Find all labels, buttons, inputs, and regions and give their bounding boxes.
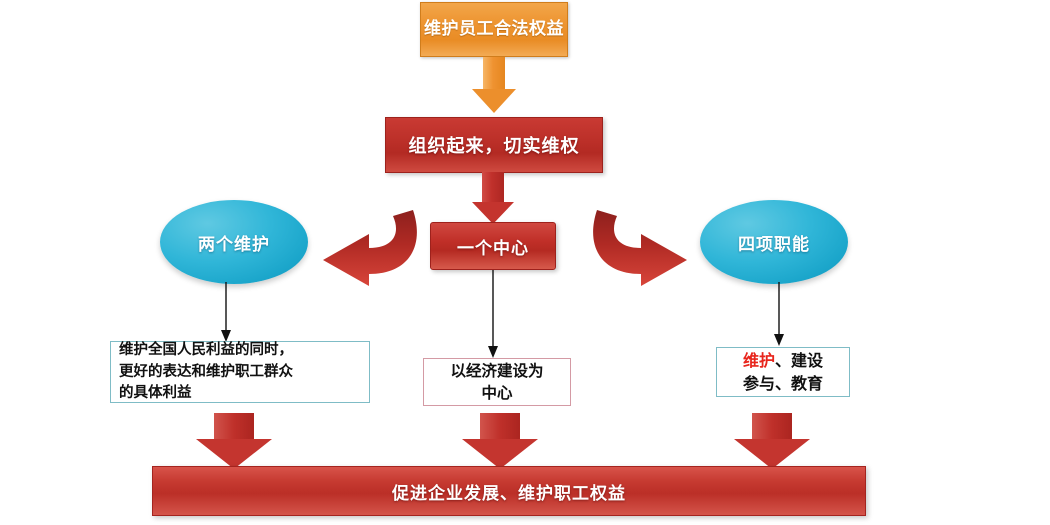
arrow-head [196,439,272,469]
arrow-shaft [752,413,792,439]
connector-line-right [745,282,815,348]
arrow-head [734,439,810,469]
leaf-left-line3: 的具体利益 [119,383,192,404]
leaf-left-line2: 更好的表达和维护职工群众 [119,362,293,383]
down-arrow-icon-red-left [196,413,272,469]
ellipse-four-functions: 四项职能 [700,200,848,284]
connector-line-middle [465,270,535,360]
leaf-right-line2: 参与、教育 [743,372,823,395]
title-box: 维护员工合法权益 [420,2,568,57]
leaf-left-line1: 维护全国人民利益的同时， [119,340,293,361]
down-arrow-icon-red-middle [462,413,538,469]
arrow-head [462,439,538,469]
arrow-shaft [480,413,520,439]
arrow-head [472,202,514,224]
arrow-head [472,89,516,113]
leaf-right-line1: 维护、建设 [743,349,823,372]
arrow-shaft [483,57,505,89]
curved-arrow-left-icon [305,198,425,290]
leaf-right-rest: 、建设 [775,351,823,370]
connector-line-left [190,282,260,344]
curved-arrow-right-icon [585,198,705,290]
leaf-box-right: 维护、建设 参与、教育 [716,347,850,397]
center-box-one-center: 一个中心 [430,222,556,270]
arrow-shaft [214,413,254,439]
diagram-canvas: 维护员工合法权益 组织起来，切实维权 两个维护 一个中心 四项职能 [0,0,1050,525]
leaf-mid-line1: 以经济建设为 [450,360,543,382]
ellipse-two-protections: 两个维护 [160,200,308,284]
arrow-shaft [482,172,504,202]
leaf-box-left: 维护全国人民利益的同时， 更好的表达和维护职工群众 的具体利益 [110,341,370,403]
process-box: 组织起来，切实维权 [385,117,603,173]
leaf-right-highlight: 维护 [743,351,775,370]
down-arrow-icon-orange [472,57,516,113]
down-arrow-icon-red-center [472,172,514,224]
leaf-mid-line2: 中心 [481,382,512,404]
bottom-summary-bar: 促进企业发展、维护职工权益 [152,466,866,516]
leaf-box-middle: 以经济建设为 中心 [423,358,571,406]
down-arrow-icon-red-right [734,413,810,469]
